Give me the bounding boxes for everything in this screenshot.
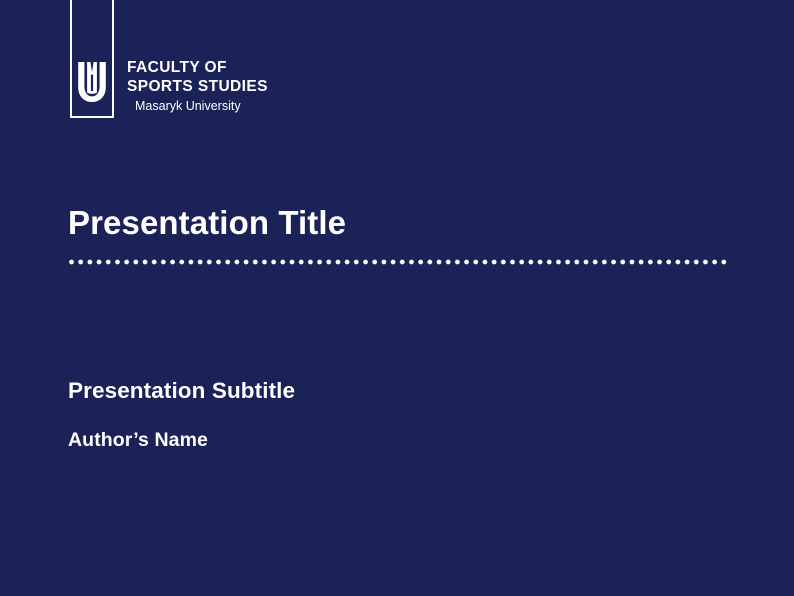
presentation-title: Presentation Title xyxy=(68,204,346,242)
logo-line-faculty: FACULTY OF xyxy=(127,58,307,77)
faculty-logo: FACULTY OF SPORTS STUDIES Masaryk Univer… xyxy=(70,0,290,120)
logo-line-sports-studies: SPORTS STUDIES xyxy=(127,77,307,96)
presentation-subtitle: Presentation Subtitle xyxy=(68,378,295,404)
logo-line-university: Masaryk University xyxy=(135,98,307,114)
mu-monogram-icon xyxy=(77,62,107,102)
title-slide: FACULTY OF SPORTS STUDIES Masaryk Univer… xyxy=(0,0,794,596)
dotted-divider xyxy=(69,259,729,265)
author-name: Author’s Name xyxy=(68,429,208,452)
logo-wordmark: FACULTY OF SPORTS STUDIES Masaryk Univer… xyxy=(127,58,307,114)
